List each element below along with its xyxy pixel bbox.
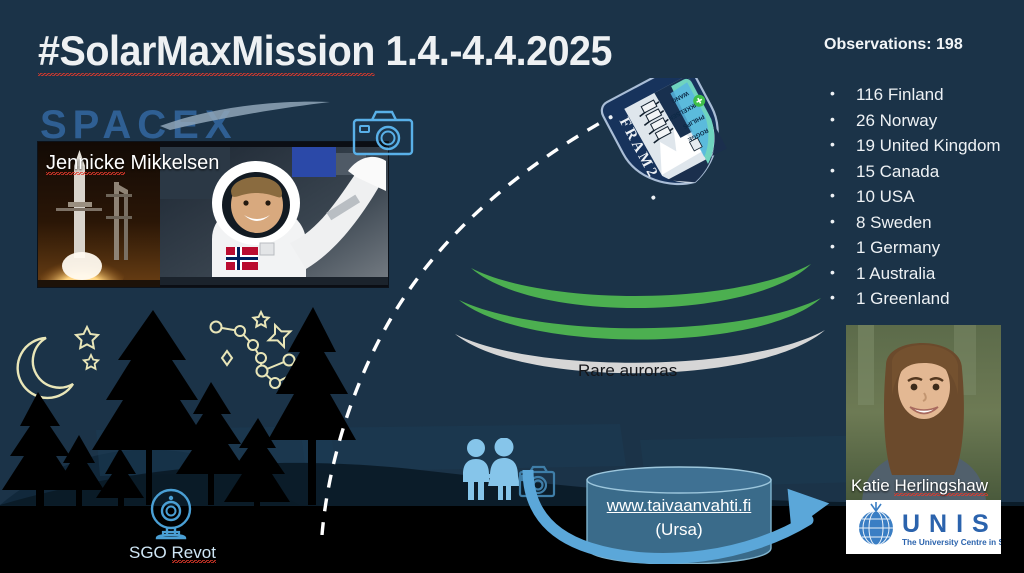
astronaut-caption-first: Jennicke [46, 152, 125, 175]
list-item: 1 Greenland [824, 286, 1024, 312]
spacex-wordmark: SPACEX [40, 103, 238, 147]
title-dates: 1.4.-4.4.2025 [375, 27, 612, 74]
katie-caption: Katie Herlingshaw [851, 476, 988, 496]
katie-photo [846, 325, 1001, 500]
astronaut-caption: Jennicke Mikkelsen [46, 152, 219, 175]
astronaut-caption-last: Mikkelsen [125, 152, 219, 174]
title-hashtag: #SolarMaxMission [38, 27, 375, 76]
webcam-label: SGO Revot [129, 543, 216, 563]
list-item: 1 Australia [824, 261, 1024, 287]
aurora-label: Rare auroras [578, 361, 677, 381]
katie-caption-first: Katie [851, 476, 894, 495]
list-item: 1 Germany [824, 235, 1024, 261]
flow-arrow-to-unis [520, 470, 850, 570]
list-item: 15 Canada [824, 159, 1024, 185]
list-item: 26 Norway [824, 108, 1024, 134]
slide-canvas: #SolarMaxMission 1.4.-4.4.2025 Observati… [0, 0, 1024, 573]
katie-caption-last: Herlingshaw [894, 476, 988, 496]
webcam-label-last: Revot [172, 543, 216, 563]
webcam-icon [145, 488, 197, 540]
list-item: 10 USA [824, 184, 1024, 210]
unis-logo: UNIS The University Centre in Svalbard [846, 500, 1001, 554]
observations-list: 116 Finland 26 Norway 19 United Kingdom … [824, 82, 1024, 312]
crescent-moon-icon [18, 338, 73, 398]
list-item: 19 United Kingdom [824, 133, 1024, 159]
observations-heading: Observations: 198 [824, 36, 963, 54]
fram2-mission-patch: WANG MIKKELSEN PHILIPS ROGGE FRAM2 [592, 78, 752, 200]
list-item: 8 Sweden [824, 210, 1024, 236]
unis-acronym: UNIS [902, 510, 998, 538]
page-title: #SolarMaxMission 1.4.-4.4.2025 [38, 27, 612, 75]
unis-tagline: The University Centre in Svalbard [902, 538, 1001, 547]
webcam-label-first: SGO [129, 543, 172, 562]
list-item: 116 Finland [824, 82, 1024, 108]
